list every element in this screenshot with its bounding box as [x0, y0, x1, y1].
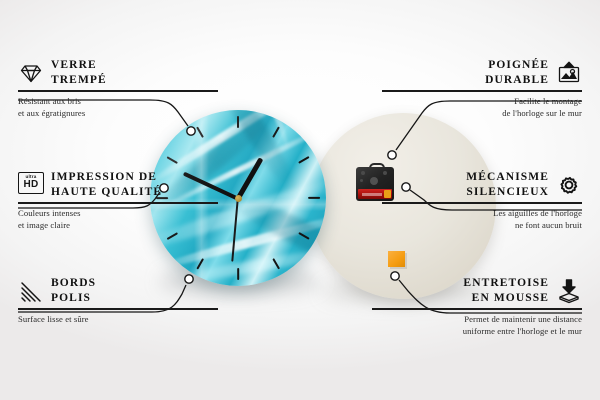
foam-spacer-icon — [556, 278, 582, 304]
foam-spacer — [388, 251, 405, 267]
feature-title-line1: BORDS — [51, 276, 96, 291]
feature-title: POIGNÉE DURABLE — [485, 58, 549, 87]
feature-divider — [382, 90, 582, 91]
feature-title: BORDS POLIS — [51, 276, 96, 305]
feature-desc-line2: et aux égratignures — [18, 107, 218, 119]
hour-tick — [272, 126, 280, 137]
feature-title-line1: VERRE — [51, 58, 107, 73]
hour-tick — [237, 116, 239, 128]
feature-header: VERRE TREMPÉ — [18, 58, 218, 87]
gear-icon — [556, 172, 582, 198]
feature-divider — [18, 90, 218, 91]
feature-bords-polis: BORDS POLIS Surface lisse et sûre — [18, 276, 218, 325]
feature-title-line2: POLIS — [51, 291, 96, 306]
feature-description: Résistant aux bris et aux égratignures — [18, 95, 218, 119]
feature-description: Facilite le montage de l'horloge sur le … — [382, 95, 582, 119]
mechanism-screw — [360, 179, 363, 182]
feature-title-line1: IMPRESSION DE — [51, 170, 162, 185]
hd-badge-box: ultra HD — [18, 172, 44, 194]
hour-tick — [298, 156, 309, 164]
feature-title: ENTRETOISE EN MOUSSE — [463, 276, 549, 305]
feature-desc-line1: Permet de maintenir une distance — [372, 313, 582, 325]
feature-desc-line2: de l'horloge sur le mur — [382, 107, 582, 119]
feature-description: Couleurs intenses et image claire — [18, 207, 218, 231]
feature-desc-line1: Les aiguilles de l'horloge — [382, 207, 582, 219]
feature-title-line2: DURABLE — [485, 73, 549, 88]
feature-title-line1: POIGNÉE — [485, 58, 549, 73]
feature-header: BORDS POLIS — [18, 276, 218, 305]
hour-tick — [166, 156, 177, 164]
feature-title: MÉCANISME SILENCIEUX — [466, 170, 549, 199]
feature-title-line1: ENTRETOISE — [463, 276, 549, 291]
feature-header: ENTRETOISE EN MOUSSE — [372, 276, 582, 305]
feature-divider — [382, 202, 582, 203]
battery-label — [362, 193, 382, 196]
feature-desc-line2: uniforme entre l'horloge et le mur — [372, 325, 582, 337]
feature-mecanisme-silencieux: MÉCANISME SILENCIEUX Les aiguilles de l'… — [382, 170, 582, 231]
feature-desc-line1: Résistant aux bris — [18, 95, 218, 107]
hour-tick — [237, 268, 239, 280]
feature-title-line2: HAUTE QUALITÉ — [51, 185, 162, 200]
mechanism-dial — [370, 177, 378, 185]
clock-hand-cap — [235, 195, 242, 202]
feature-desc-line1: Couleurs intenses — [18, 207, 218, 219]
feature-description: Les aiguilles de l'horloge ne font aucun… — [382, 207, 582, 231]
feature-title-line2: TREMPÉ — [51, 73, 107, 88]
feature-desc-line1: Facilite le montage — [382, 95, 582, 107]
hour-tick — [308, 197, 320, 199]
hd-badge-hd-text: HD — [23, 180, 38, 190]
feature-desc-line1: Surface lisse et sûre — [18, 313, 218, 325]
feature-title: IMPRESSION DE HAUTE QUALITÉ — [51, 170, 162, 199]
feature-description: Surface lisse et sûre — [18, 313, 218, 325]
mechanism-screw — [361, 171, 365, 175]
feature-desc-line2: ne font aucun bruit — [382, 219, 582, 231]
polished-edges-icon — [18, 278, 44, 304]
feature-poignee-durable: POIGNÉE DURABLE Facilite le montage de l… — [382, 58, 582, 119]
feature-header: MÉCANISME SILENCIEUX — [382, 170, 582, 199]
feature-title-line2: EN MOUSSE — [463, 291, 549, 306]
feature-entretoise-en-mousse: ENTRETOISE EN MOUSSE Permet de maintenir… — [372, 276, 582, 337]
ultra-hd-badge-icon: ultra HD — [18, 172, 44, 198]
feature-description: Permet de maintenir une distance uniform… — [372, 313, 582, 337]
picture-hanger-icon — [556, 60, 582, 86]
feature-title-line2: SILENCIEUX — [466, 185, 549, 200]
diamond-icon — [18, 60, 44, 86]
feature-header: ultra HD IMPRESSION DE HAUTE QUALITÉ — [18, 170, 218, 199]
feature-header: POIGNÉE DURABLE — [382, 58, 582, 87]
feature-desc-line2: et image claire — [18, 219, 218, 231]
feature-verre-trempe: VERRE TREMPÉ Résistant aux bris et aux é… — [18, 58, 218, 119]
feature-title: VERRE TREMPÉ — [51, 58, 107, 87]
feature-impression-haute-qualite: ultra HD IMPRESSION DE HAUTE QUALITÉ Cou… — [18, 170, 218, 231]
feature-divider — [372, 308, 582, 309]
feature-divider — [18, 202, 218, 203]
feature-title-line1: MÉCANISME — [466, 170, 549, 185]
feature-divider — [18, 308, 218, 309]
infographic-canvas: VERRE TREMPÉ Résistant aux bris et aux é… — [0, 0, 600, 400]
